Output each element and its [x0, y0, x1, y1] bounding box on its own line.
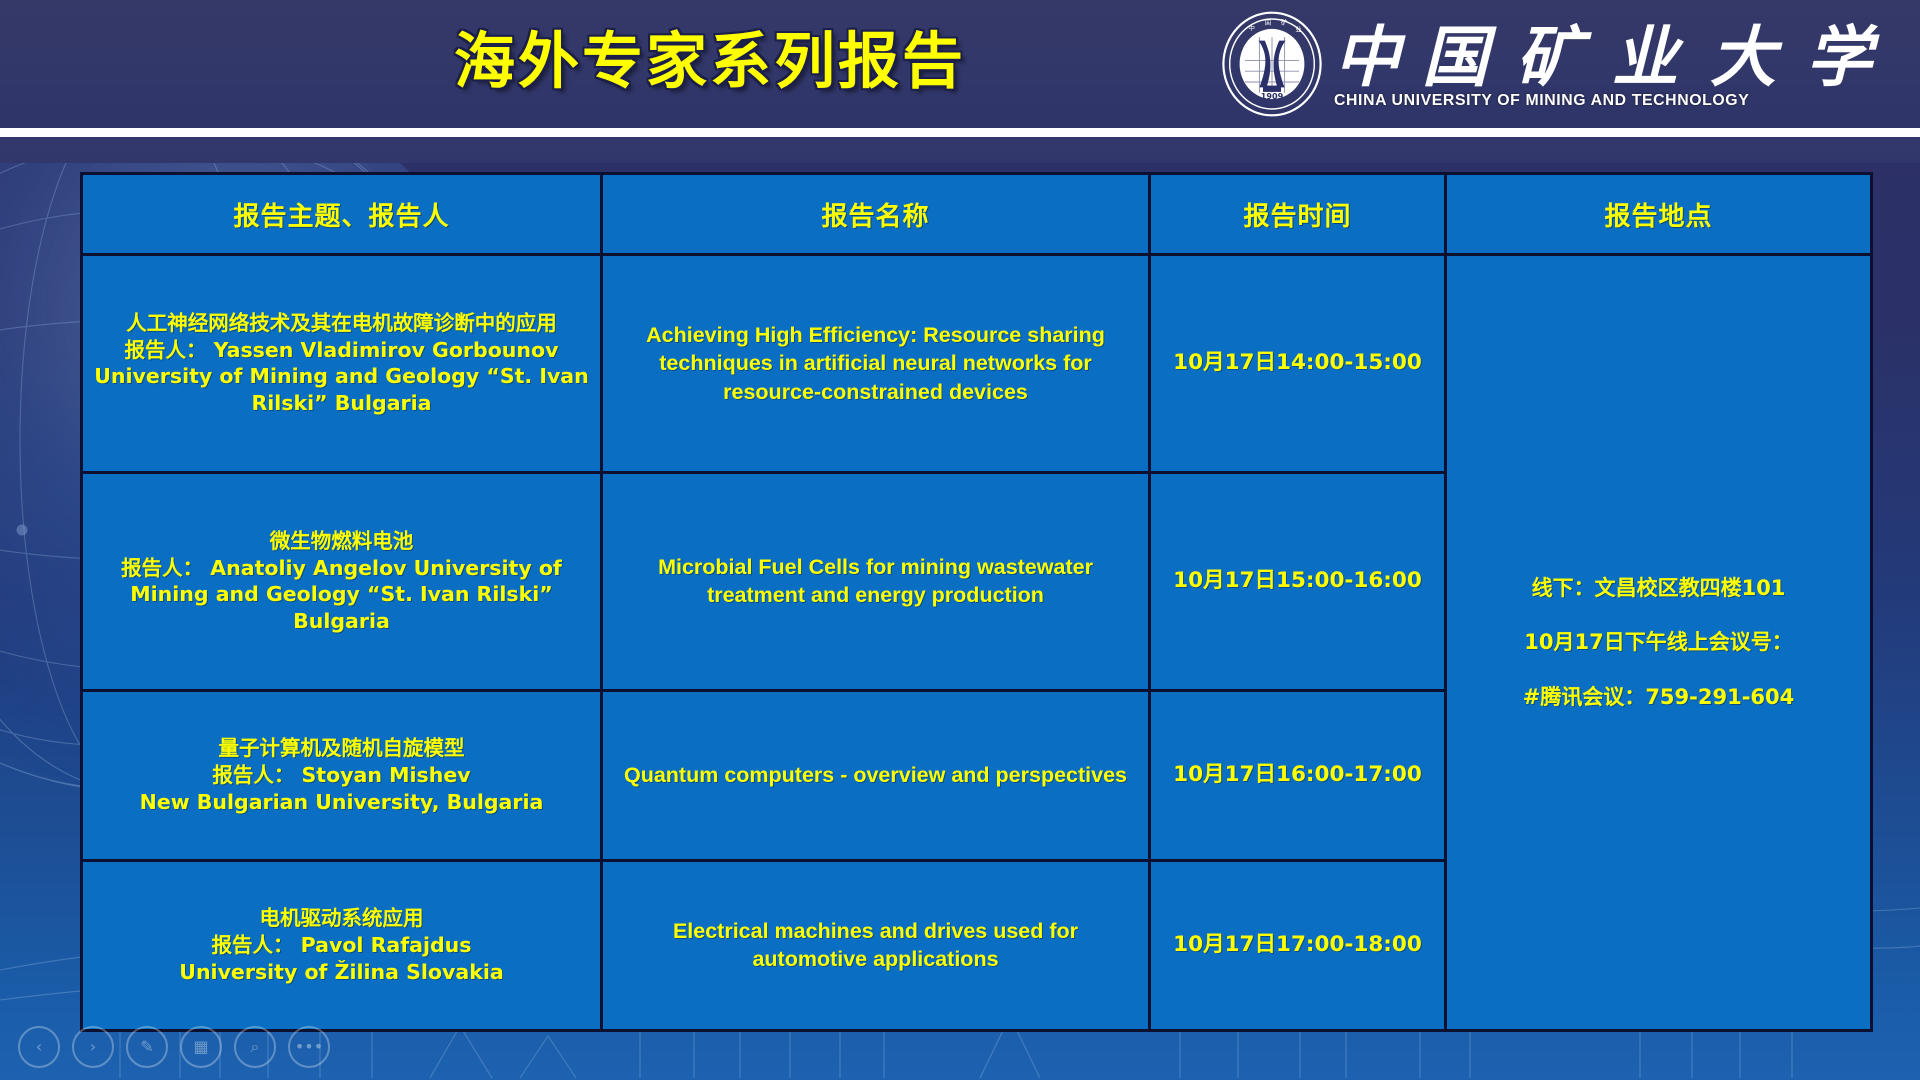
cell-talk-title: Achieving High Efficiency: Resource shar… — [602, 255, 1150, 473]
topic-line: 人工神经网络技术及其在电机故障诊断中的应用 — [93, 310, 590, 337]
svg-text:矿: 矿 — [1516, 19, 1592, 96]
cell-topic-speaker: 量子计算机及随机自旋模型 报告人： Stoyan Mishev New Bulg… — [82, 690, 602, 860]
cell-location: 线下：文昌校区教四楼101 10月17日下午线上会议号： #腾讯会议：759-2… — [1446, 255, 1872, 1031]
cell-topic-speaker: 电机驱动系统应用 报告人： Pavol Rafajdus University … — [82, 860, 602, 1030]
header-divider-rule — [0, 128, 1920, 137]
slide-canvas: 海外专家系列报告 1909 中国 矿业 — [0, 0, 1920, 1080]
svg-text:国: 国 — [1265, 18, 1271, 26]
svg-text:业: 业 — [1612, 19, 1684, 96]
svg-text:矿: 矿 — [1281, 17, 1287, 26]
cell-topic-speaker: 人工神经网络技术及其在电机故障诊断中的应用 报告人： Yassen Vladim… — [82, 255, 602, 473]
svg-text:学: 学 — [1806, 19, 1880, 96]
zoom-button[interactable]: ⌕ — [234, 1026, 276, 1068]
header-lower-band — [0, 137, 1920, 163]
topic-line: 量子计算机及随机自旋模型 — [93, 735, 590, 762]
column-header-topic: 报告主题、报告人 — [82, 174, 602, 255]
next-slide-button[interactable]: › — [72, 1026, 114, 1068]
topic-line: University of Mining and Geology “St. Iv… — [93, 363, 590, 390]
topic-line: 报告人： Anatoliy Angelov University of — [93, 555, 590, 582]
column-header-name: 报告名称 — [602, 174, 1150, 255]
column-header-time: 报告时间 — [1150, 174, 1446, 255]
topic-line: 报告人： Pavol Rafajdus — [93, 932, 590, 959]
location-line: 10月17日下午线上会议号： — [1457, 615, 1860, 670]
svg-text:中: 中 — [1249, 23, 1255, 32]
topic-line: 报告人： Stoyan Mishev — [93, 762, 590, 789]
svg-text:国: 国 — [1422, 19, 1497, 96]
seal-year-text: 1909 — [1261, 91, 1284, 101]
schedule-table: 报告主题、报告人 报告名称 报告时间 报告地点 人工神经网络技术及其在电机故障诊… — [80, 172, 1873, 1032]
topic-line: Rilski” Bulgaria — [93, 390, 590, 417]
cell-talk-title: Quantum computers - overview and perspec… — [602, 690, 1150, 860]
cell-talk-time: 10月17日15:00-16:00 — [1150, 472, 1446, 690]
table-header-row: 报告主题、报告人 报告名称 报告时间 报告地点 — [82, 174, 1872, 255]
location-line: #腾讯会议：759-291-604 — [1457, 670, 1860, 725]
table-row: 人工神经网络技术及其在电机故障诊断中的应用 报告人： Yassen Vladim… — [82, 255, 1872, 473]
slide-header-band: 海外专家系列报告 1909 中国 矿业 — [0, 0, 1920, 128]
cell-topic-speaker: 微生物燃料电池 报告人： Anatoliy Angelov University… — [82, 472, 602, 690]
topic-line: 微生物燃料电池 — [93, 528, 590, 555]
university-name-cn-logo: 中 国 矿 业 大 学 — [1334, 18, 1914, 96]
topic-line: Bulgaria — [93, 608, 590, 635]
svg-text:大: 大 — [1710, 19, 1783, 96]
svg-text:中: 中 — [1334, 19, 1406, 96]
topic-line: University of Žilina Slovakia — [93, 959, 590, 986]
topic-line: New Bulgarian University, Bulgaria — [93, 789, 590, 816]
pen-tool-button[interactable]: ✎ — [126, 1026, 168, 1068]
svg-text:业: 业 — [1295, 25, 1301, 34]
university-logo: 1909 中国 矿业 中 国 矿 业 大 学 CHIN — [1218, 2, 1914, 126]
more-options-button[interactable]: ••• — [288, 1026, 330, 1068]
cell-talk-title: Microbial Fuel Cells for mining wastewat… — [602, 472, 1150, 690]
presenter-toolbar[interactable]: ‹ › ✎ ▦ ⌕ ••• — [18, 1026, 330, 1068]
university-name-en-logo: CHINA UNIVERSITY OF MINING AND TECHNOLOG… — [1334, 92, 1920, 110]
cell-talk-time: 10月17日17:00-18:00 — [1150, 860, 1446, 1030]
topic-line: 报告人： Yassen Vladimirov Gorbounov — [93, 337, 590, 364]
cell-talk-title: Electrical machines and drives used for … — [602, 860, 1150, 1030]
page-title: 海外专家系列报告 — [0, 14, 1420, 110]
university-seal-icon: 1909 中国 矿业 — [1218, 10, 1326, 118]
slide-grid-button[interactable]: ▦ — [180, 1026, 222, 1068]
topic-line: 电机驱动系统应用 — [93, 905, 590, 932]
cell-talk-time: 10月17日16:00-17:00 — [1150, 690, 1446, 860]
column-header-location: 报告地点 — [1446, 174, 1872, 255]
cell-talk-time: 10月17日14:00-15:00 — [1150, 255, 1446, 473]
location-line: 线下：文昌校区教四楼101 — [1457, 561, 1860, 616]
previous-slide-button[interactable]: ‹ — [18, 1026, 60, 1068]
schedule-table-container: 报告主题、报告人 报告名称 报告时间 报告地点 人工神经网络技术及其在电机故障诊… — [80, 172, 1870, 1032]
topic-line: Mining and Geology “St. Ivan Rilski” — [93, 581, 590, 608]
